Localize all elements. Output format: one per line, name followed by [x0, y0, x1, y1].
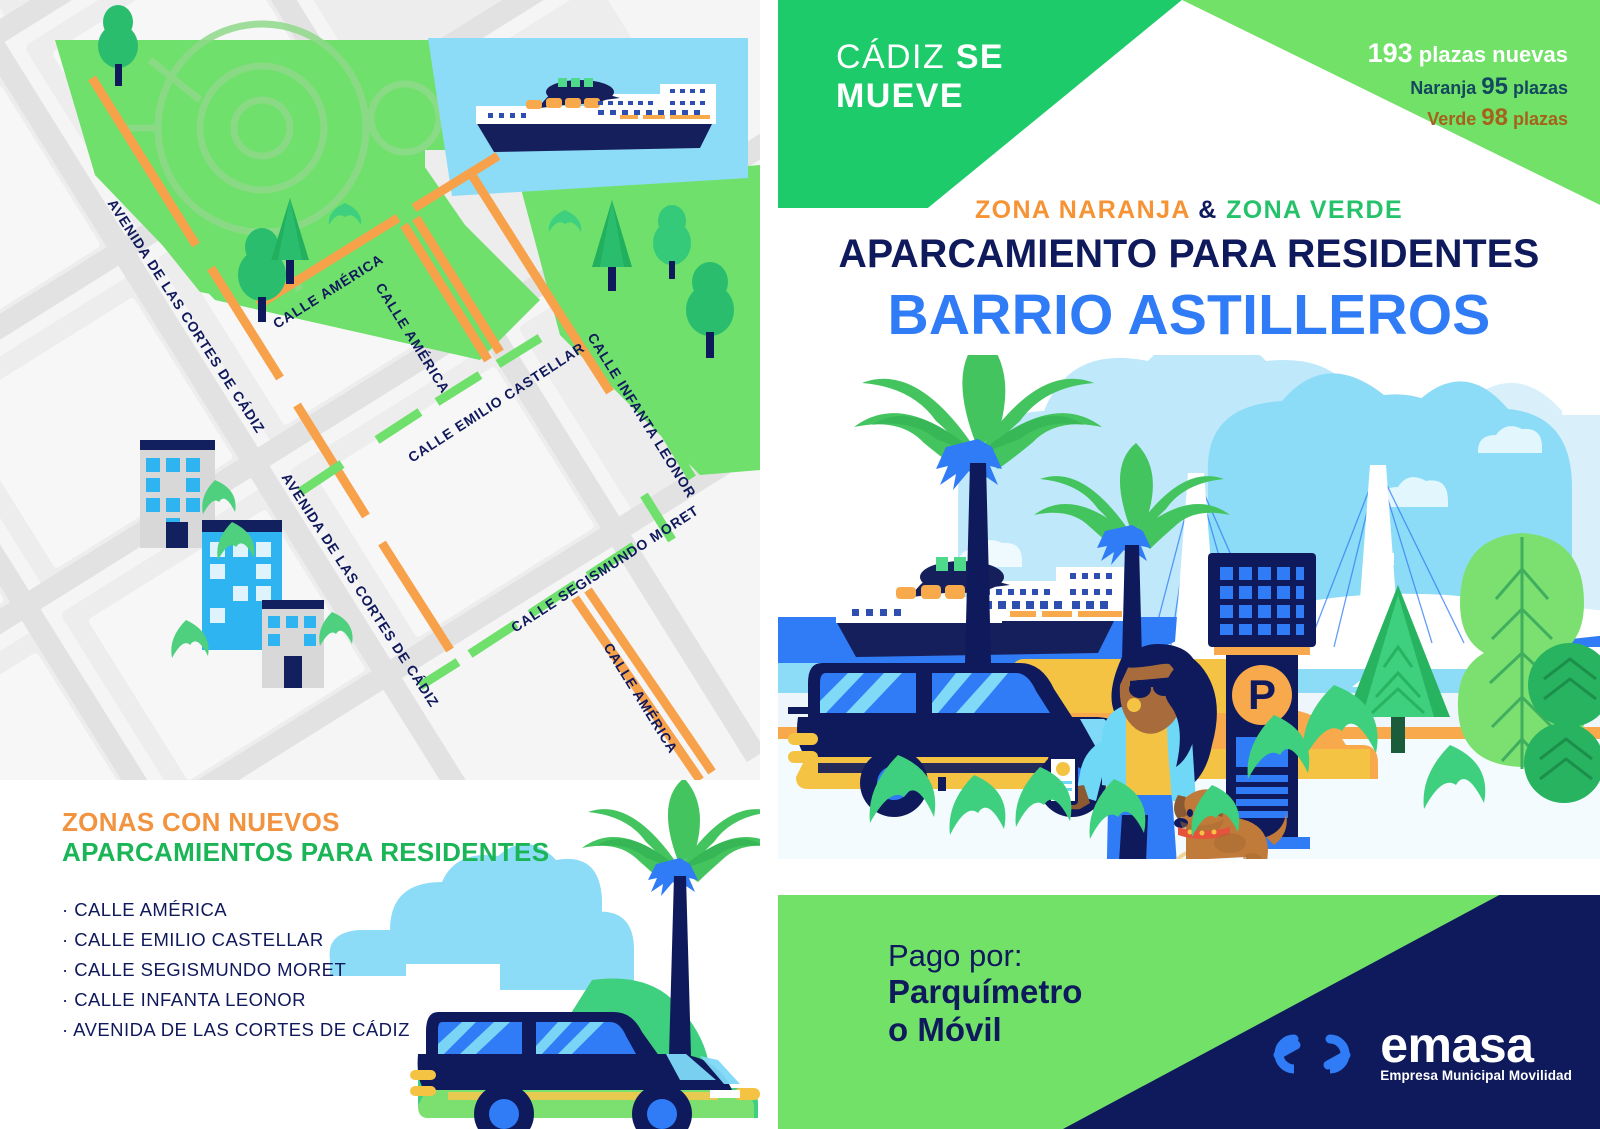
- emasa-tagline: Empresa Municipal Movilidad: [1380, 1068, 1572, 1083]
- campaign-title-thin: CÁDIZ: [836, 38, 956, 76]
- campaign-title: CÁDIZ SE MUEVE: [836, 38, 1156, 116]
- stat-orange-label: Naranja: [1410, 78, 1481, 98]
- promo-panel: CÁDIZ SE MUEVE 193 plazas nuevas Naranja…: [778, 0, 1600, 1129]
- emasa-wordmark: emasa: [1380, 1022, 1572, 1068]
- list-item: · CALLE EMILIO CASTELLAR: [62, 925, 410, 955]
- emasa-mark-icon: [1264, 1023, 1364, 1083]
- campaign-title-bold: SE: [956, 38, 1004, 76]
- list-item: · CALLE SEGISMUNDO MORET: [62, 955, 410, 985]
- stat-total: 193 plazas nuevas: [1368, 36, 1568, 71]
- stat-green: Verde 98 plazas: [1368, 102, 1568, 133]
- zone-green-label: ZONA VERDE: [1226, 196, 1403, 224]
- legend-car: [410, 1012, 760, 1129]
- payment-icons: P: [1590, 915, 1600, 1075]
- stat-green-label: Verde: [1427, 109, 1481, 129]
- stat-green-number: 98: [1481, 104, 1508, 131]
- list-item: · CALLE INFANTA LEONOR: [62, 985, 410, 1015]
- street-map: [0, 0, 760, 780]
- stat-green-unit: plazas: [1508, 109, 1568, 129]
- payment-line1: Pago por:: [888, 938, 1082, 973]
- emasa-logo: emasa Empresa Municipal Movilidad: [1264, 1022, 1572, 1083]
- list-item: · AVENIDA DE LAS CORTES DE CÁDIZ: [62, 1015, 410, 1045]
- meter-p-letter: P: [1248, 671, 1276, 718]
- map-panel: AVENIDA DE LAS CORTES DE CÁDIZ CALLE AMÉ…: [0, 0, 760, 780]
- legend-panel: ZONAS CON NUEVOS APARCAMIENTOS PARA RESI…: [0, 780, 760, 1129]
- stat-orange: Naranja 95 plazas: [1368, 71, 1568, 102]
- stats-block: 193 plazas nuevas Naranja 95 plazas Verd…: [1368, 36, 1568, 133]
- payment-text: Pago por: Parquímetro o Móvil: [888, 938, 1082, 1049]
- street-list: · CALLE AMÉRICA · CALLE EMILIO CASTELLAR…: [62, 895, 410, 1045]
- stat-total-label: plazas nuevas: [1413, 42, 1568, 67]
- page-title: APARCAMIENTO PARA RESIDENTES: [786, 232, 1592, 277]
- stat-orange-unit: plazas: [1508, 78, 1568, 98]
- zone-amp: &: [1190, 196, 1226, 224]
- zone-eyebrow: ZONA NARANJA & ZONA VERDE: [778, 196, 1600, 225]
- legend-title-line2: APARCAMIENTOS PARA RESIDENTES: [62, 838, 549, 868]
- main-illustration: P: [778, 355, 1600, 895]
- zone-orange-label: ZONA NARANJA: [975, 196, 1190, 224]
- campaign-title-line2: MUEVE: [836, 77, 1156, 116]
- list-item: · CALLE AMÉRICA: [62, 895, 410, 925]
- legend-title-line1: ZONAS CON NUEVOS: [62, 808, 549, 838]
- stat-orange-number: 95: [1481, 73, 1508, 100]
- payment-line2: Parquímetro: [888, 973, 1082, 1011]
- infographic-poster: AVENIDA DE LAS CORTES DE CÁDIZ CALLE AMÉ…: [0, 0, 1600, 1129]
- stat-total-number: 193: [1368, 38, 1413, 68]
- page-subtitle: BARRIO ASTILLEROS: [778, 282, 1600, 348]
- legend-title: ZONAS CON NUEVOS APARCAMIENTOS PARA RESI…: [62, 808, 549, 867]
- payment-line3: o Móvil: [888, 1011, 1082, 1049]
